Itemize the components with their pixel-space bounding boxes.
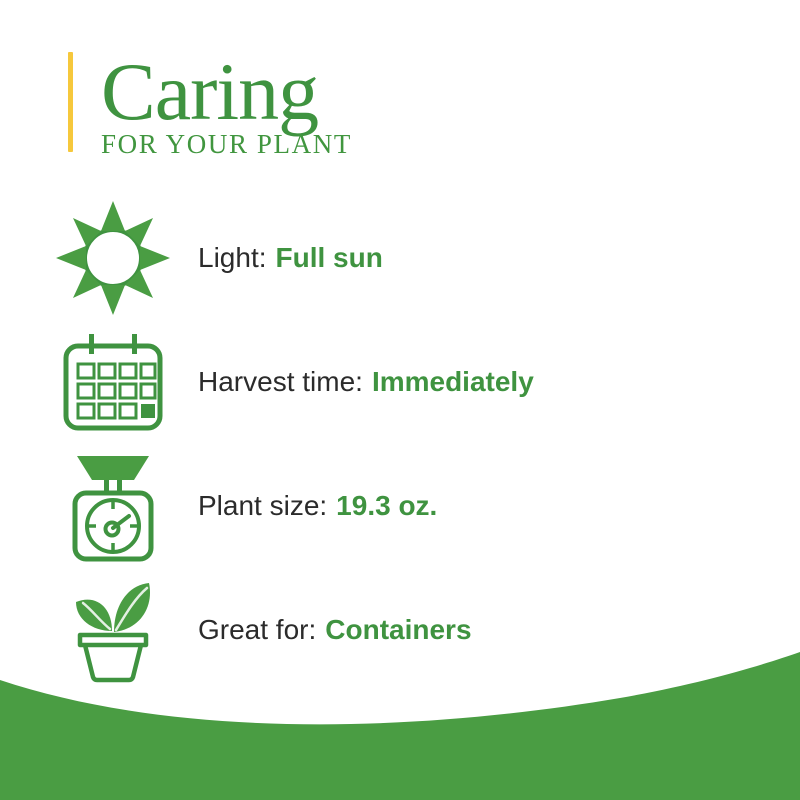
kitchen-scale-icon <box>0 450 210 562</box>
fact-value: Full sun <box>276 242 383 274</box>
page-title: Caring <box>101 54 352 129</box>
fact-text: Harvest time: Immediately <box>198 366 800 398</box>
header: Caring FOR YOUR PLANT <box>68 52 352 158</box>
header-text: Caring FOR YOUR PLANT <box>101 52 352 158</box>
caring-for-your-plant-card: Caring FOR YOUR PLANT <box>0 0 800 800</box>
footer-wave <box>0 640 800 800</box>
fact-value: Immediately <box>372 366 534 398</box>
fact-text: Plant size: 19.3 oz. <box>198 490 800 522</box>
page-subtitle: FOR YOUR PLANT <box>101 131 352 158</box>
fact-label: Plant size: <box>198 490 327 522</box>
fact-label: Light: <box>198 242 267 274</box>
fact-list: Light: Full sun <box>0 196 800 692</box>
accent-bar <box>68 52 73 152</box>
sun-icon <box>0 199 210 317</box>
list-item: Harvest time: Immediately <box>0 320 800 444</box>
fact-text: Light: Full sun <box>198 242 800 274</box>
fact-value: 19.3 oz. <box>336 490 437 522</box>
fact-label: Harvest time: <box>198 366 363 398</box>
list-item: Plant size: 19.3 oz. <box>0 444 800 568</box>
list-item: Light: Full sun <box>0 196 800 320</box>
calendar-icon <box>0 332 210 432</box>
